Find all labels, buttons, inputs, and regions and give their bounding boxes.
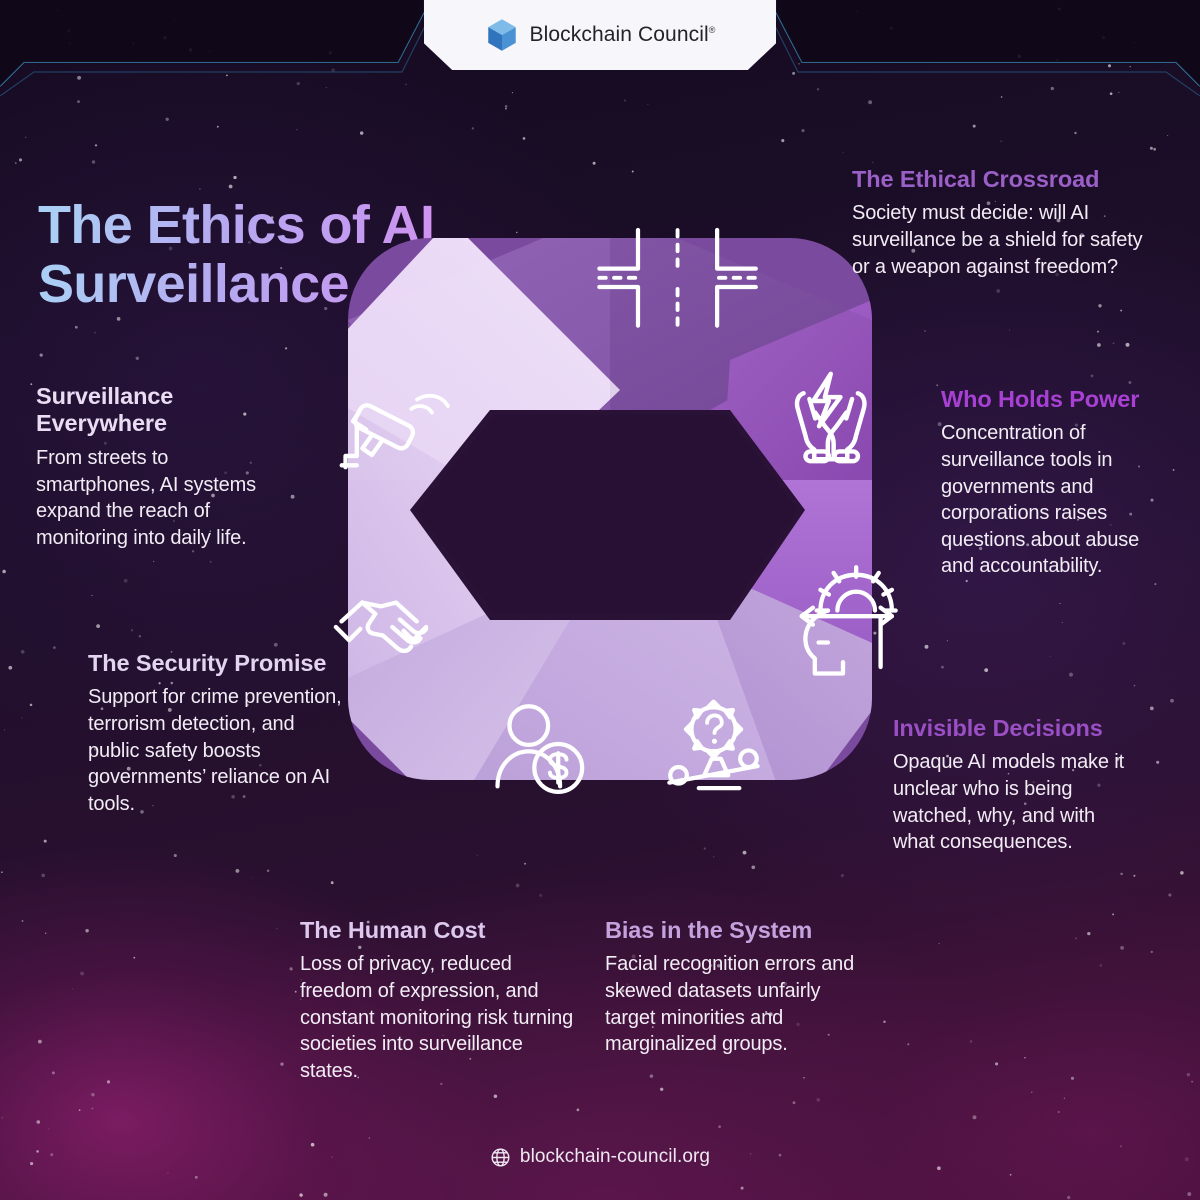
block-body: Opaque AI models make it unclear who is … bbox=[893, 749, 1135, 855]
block-body: Facial recognition errors and skewed dat… bbox=[605, 951, 865, 1057]
block-the-security-promise: The Security Promise Support for crime p… bbox=[88, 650, 350, 817]
block-surveillance-everywhere: Surveillance Everywhere From streets to … bbox=[36, 383, 281, 551]
block-body: Loss of privacy, reduced freedom of expr… bbox=[300, 951, 580, 1084]
camera-shutter-aperture-diagram bbox=[290, 180, 930, 845]
block-body: From streets to smartphones, AI systems … bbox=[36, 445, 281, 551]
block-the-human-cost: The Human Cost Loss of privacy, reduced … bbox=[300, 917, 580, 1084]
block-heading: Surveillance Everywhere bbox=[36, 383, 281, 438]
block-heading: The Ethical Crossroad bbox=[852, 166, 1162, 193]
brand-name: Blockchain Council® bbox=[530, 23, 716, 47]
globe-icon bbox=[490, 1147, 511, 1168]
block-bias-in-the-system: Bias in the System Facial recognition er… bbox=[605, 917, 865, 1058]
block-heading: Bias in the System bbox=[605, 917, 865, 944]
block-heading: Who Holds Power bbox=[941, 386, 1173, 413]
block-the-ethical-crossroad: The Ethical Crossroad Society must decid… bbox=[852, 166, 1162, 280]
footer-website: blockchain-council.org bbox=[520, 1146, 710, 1168]
brand-notch: Blockchain Council® bbox=[424, 0, 776, 70]
brand-name-text: Blockchain Council bbox=[530, 23, 709, 46]
registered-mark: ® bbox=[709, 25, 716, 35]
blockchain-cube-icon bbox=[485, 18, 519, 52]
block-body: Concentration of surveillance tools in g… bbox=[941, 420, 1173, 580]
header: Blockchain Council® bbox=[0, 0, 1200, 96]
block-body: Support for crime prevention, terrorism … bbox=[88, 684, 350, 817]
block-heading: The Security Promise bbox=[88, 650, 350, 677]
infographic-poster: Blockchain Council® The Ethics of AI Sur… bbox=[0, 0, 1200, 1200]
footer: blockchain-council.org bbox=[0, 1146, 1200, 1168]
block-heading: Invisible Decisions bbox=[893, 715, 1135, 742]
block-heading: The Human Cost bbox=[300, 917, 580, 944]
block-invisible-decisions: Invisible Decisions Opaque AI models mak… bbox=[893, 715, 1135, 856]
block-body: Society must decide: will AI surveillanc… bbox=[852, 200, 1162, 280]
block-who-holds-power: Who Holds Power Concentration of surveil… bbox=[941, 386, 1173, 580]
